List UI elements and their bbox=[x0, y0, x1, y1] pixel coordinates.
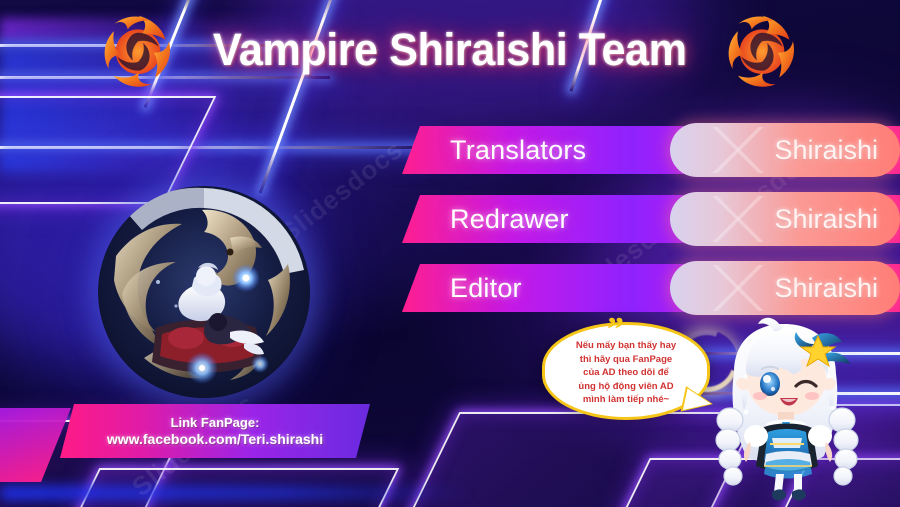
role-value-pill[interactable]: Shiraishi bbox=[670, 261, 900, 315]
chibi-mascot bbox=[700, 316, 876, 507]
role-row-translators: Translators Shiraishi bbox=[402, 126, 900, 174]
role-label: Translators bbox=[450, 126, 586, 174]
role-value: Shiraishi bbox=[774, 135, 878, 166]
speech-bubble-text: Nếu mấy bạn thấy hay thì hãy qua FanPage… bbox=[566, 339, 686, 406]
fanpage-url: www.facebook.com/Teri.shirashi bbox=[107, 431, 323, 447]
role-label: Editor bbox=[450, 264, 522, 312]
neon-band-bottom bbox=[0, 486, 470, 500]
poster-header: Vampire Shiraishi Team bbox=[0, 0, 900, 100]
role-row-editor: Editor Shiraishi bbox=[402, 264, 900, 312]
role-value: Shiraishi bbox=[774, 204, 878, 235]
phoenix-icon bbox=[719, 7, 805, 93]
role-list: Translators Shiraishi Redrawer Shiraishi… bbox=[402, 126, 900, 333]
fanpage-link-banner[interactable]: Link FanPage: www.facebook.com/Teri.shir… bbox=[60, 404, 370, 458]
speech-bubble: ” Nếu mấy bạn thấy hay thì hãy qua FanPa… bbox=[542, 322, 710, 420]
role-value: Shiraishi bbox=[774, 273, 878, 304]
role-row-redrawer: Redrawer Shiraishi bbox=[402, 195, 900, 243]
role-label: Redrawer bbox=[450, 195, 569, 243]
page-title: Vampire Shiraishi Team bbox=[213, 24, 687, 76]
poster-canvas: Slidesdocs Slidesdocs Slidesdocs Slidesd… bbox=[0, 0, 900, 507]
role-value-pill[interactable]: Shiraishi bbox=[670, 192, 900, 246]
quote-mark-icon: ” bbox=[607, 313, 622, 347]
phoenix-icon bbox=[95, 7, 181, 93]
fanpage-label: Link FanPage: bbox=[171, 415, 260, 430]
role-value-pill[interactable]: Shiraishi bbox=[670, 123, 900, 177]
circular-artwork bbox=[98, 186, 310, 398]
